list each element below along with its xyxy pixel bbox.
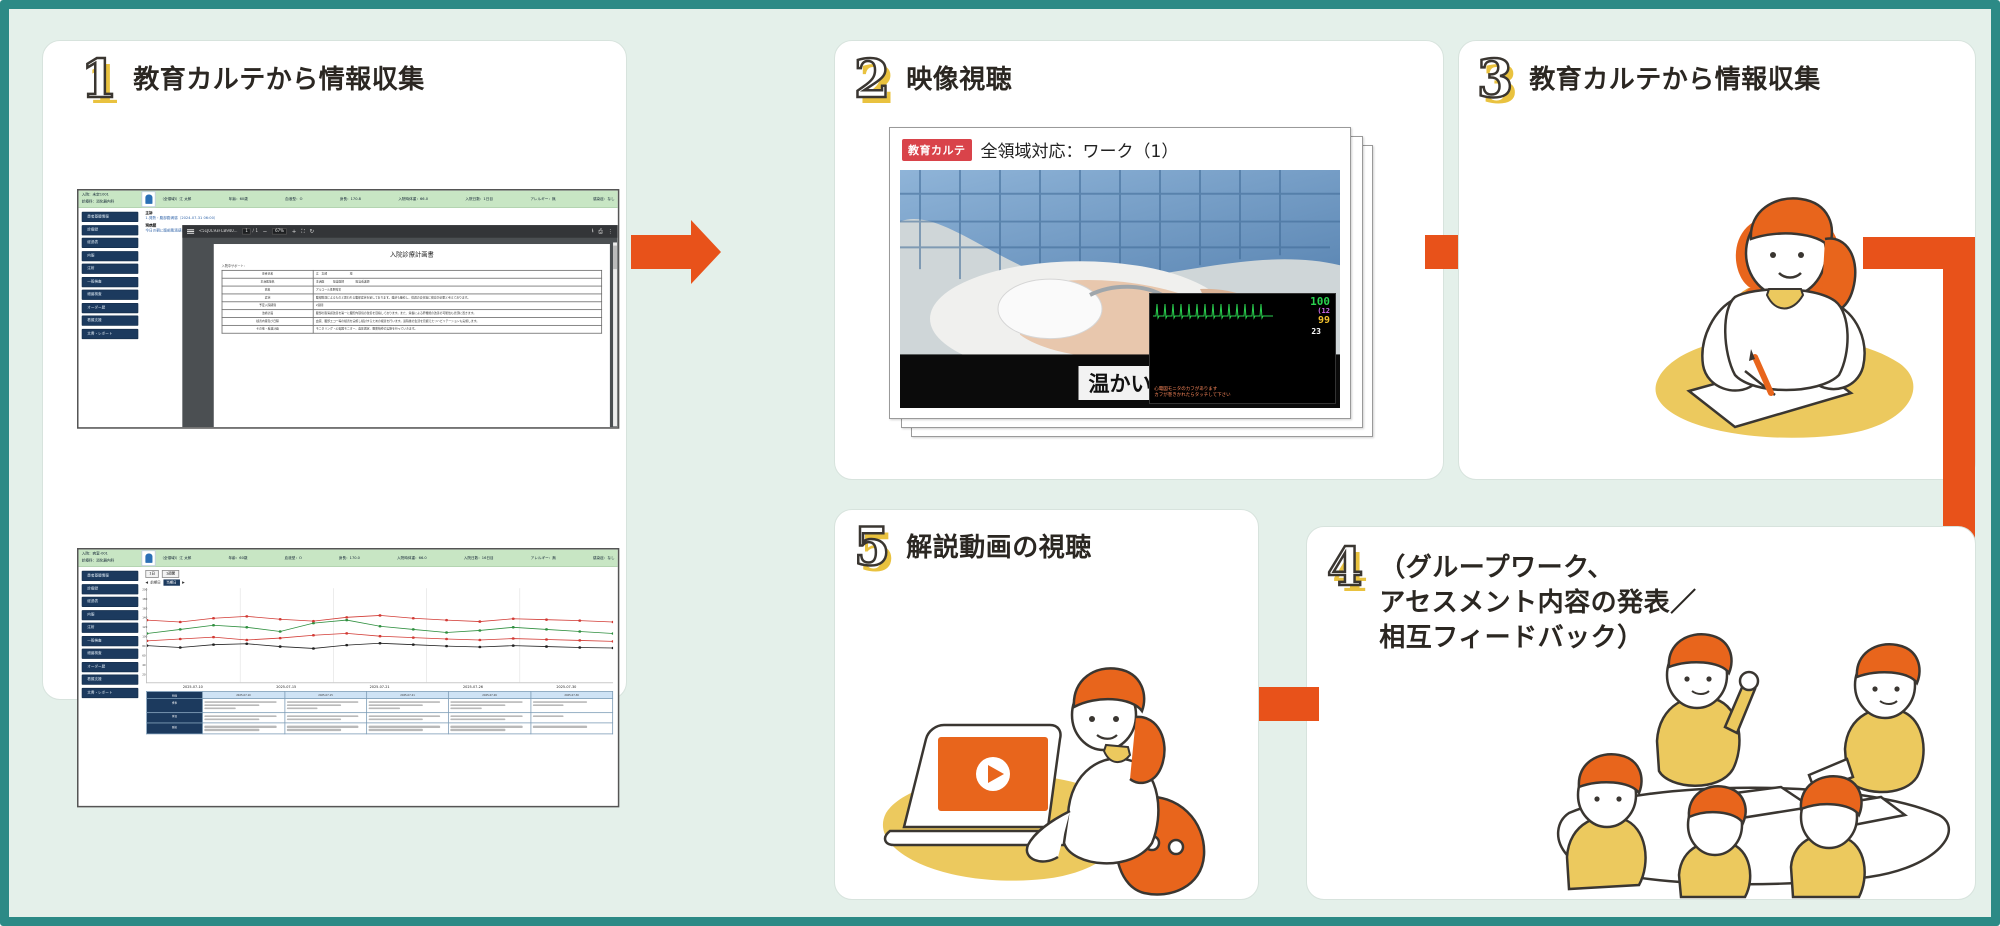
tab-one-day[interactable]: 1日 <box>145 570 159 578</box>
vitals-patient-room: 入院：病室-001 <box>82 551 137 558</box>
emr-field: アレルギー：無 <box>530 196 555 201</box>
cell: 2025-07-26 <box>449 691 531 698</box>
nav-arrow-left-icon[interactable]: ◀ <box>145 581 148 585</box>
date-label: 2025-07-10 <box>183 686 203 690</box>
tab-one-week[interactable]: 1週間 <box>162 570 179 578</box>
cell <box>531 712 613 723</box>
pdf-table: 患者氏名 江 太郎 様 主治医等名 主治医 担当医師 担当看護師 病名 アルコー… <box>222 270 602 334</box>
row-label: 検査内容及び日程 <box>222 318 313 326</box>
row-value: 主治医 担当医師 担当看護師 <box>313 278 602 286</box>
emr-field: 年齢：60歳 <box>229 196 248 201</box>
row-value: 2週間 <box>313 302 602 310</box>
cell <box>449 712 531 723</box>
sidebar-item-patient-info[interactable]: 患者基礎情報 <box>82 212 139 222</box>
sidebar-item-documents[interactable]: 文書・レポート <box>82 688 139 698</box>
vitals-date-labels: 2025-07-10 2025-07-15 2025-07-21 2025-07… <box>146 686 613 690</box>
row-value: 腹部膨満によるものと思われる腹部症状を呈しております。発熱も継続し、体調の変化等… <box>313 294 602 302</box>
chart-y-axis: 200 180 160 140 120 100 80 60 40 20 <box>142 588 147 682</box>
sidebar-item-general-test[interactable]: 一般検査 <box>82 636 139 646</box>
date-label: 2025-07-21 <box>370 686 390 690</box>
nav-arrow-right-icon[interactable]: ▶ <box>182 581 185 585</box>
cell: 2025-07-30 <box>531 691 613 698</box>
vitals-patient-info: 入院：病室-001 診療科：消化器内科 <box>82 551 137 565</box>
vitals-field: （全領域Ⅰ）江 太郎 <box>160 555 191 560</box>
vitals-main-area: 1日 1週間 ◀ 前期日 当期日 ▶ 200 180 160 140 <box>141 567 617 806</box>
row-value: 血液、腹部エコー等の検査を実施し検討するための検査を行います。退院後の生活を見据… <box>313 318 602 326</box>
emr-field-list: （全領域Ⅰ）江 太郎 年齢：60歳 血液型：O 身長：170.8 入院時体重：6… <box>160 196 614 201</box>
sidebar-item-bacteria-test[interactable]: 細菌検査 <box>82 290 139 300</box>
rotate-icon[interactable]: ↻ <box>310 228 315 234</box>
patient-avatar-icon <box>141 550 155 566</box>
video-stack: 教育カルテ 全領域対応：ワーク（1） <box>889 127 1389 457</box>
vitals-data-table: 時間 2025-07-10 2025-07-15 2025-07-21 2025… <box>146 691 613 734</box>
pdf-document-title: 入院診療計画書 <box>222 250 602 259</box>
y-tick: 140 <box>142 616 147 619</box>
zoom-out-icon[interactable]: − <box>263 228 268 234</box>
step-1-number: 1 <box>81 57 117 103</box>
note-value-chief-complaint: 1.発熱・腹部膨満感（2024-07-31 06:00） <box>145 216 613 221</box>
step-2-header: 2 映像視聴 <box>854 57 1012 103</box>
table-row: その他・看護計画 モニタリング・心電図モニター、血圧測定、服薬指導の実施を行って… <box>222 325 602 333</box>
y-tick: 160 <box>142 607 147 610</box>
emr-header-bar: 入院：未定1001 診療科：消化器内科 （全領域Ⅰ）江 太郎 年齢：60歳 血液… <box>79 191 618 208</box>
emr-record-screenshot[interactable]: 入院：未定1001 診療科：消化器内科 （全領域Ⅰ）江 太郎 年齢：60歳 血液… <box>77 189 619 429</box>
vitals-field: 入院時体重：66.0 <box>397 555 427 560</box>
cell <box>285 712 367 723</box>
monitor-resp-rate: 23 <box>1311 327 1321 336</box>
step-5-number: 5 <box>854 525 890 571</box>
print-icon[interactable]: ⎙ <box>598 228 602 235</box>
cell: 2025-07-21 <box>367 691 449 698</box>
cell <box>367 712 449 723</box>
sidebar-item-general-test[interactable]: 一般検査 <box>82 277 139 287</box>
vitals-field-list: （全領域Ⅰ）江 太郎 年齢：60歳 血液型：O 身長：170.0 入院時体重：6… <box>160 555 614 560</box>
sidebar-item-documents[interactable]: 文書・レポート <box>82 329 139 339</box>
cell <box>202 712 284 723</box>
row-value: 腹部の膨満感改善を第一に腹腔内環境の改善を目指しております。また、栄養による肝機… <box>313 310 602 318</box>
table-row: 病名 アルコール性肝障害 <box>222 286 602 294</box>
monitor-spo2: 99 <box>1318 315 1330 326</box>
pdf-page-sep: / <box>253 229 254 234</box>
row-header: 体温 <box>147 712 203 723</box>
date-label: 2025-07-15 <box>276 686 296 690</box>
step-5-header: 5 解説動画の視聴 <box>854 525 1092 571</box>
y-tick: 100 <box>142 635 147 638</box>
row-header: 食事 <box>147 699 203 713</box>
patient-avatar-icon <box>141 191 155 207</box>
step-3-title: 教育カルテから情報収集 <box>1529 57 1821 98</box>
y-tick: 180 <box>142 598 147 601</box>
emr-sidebar: 患者基礎情報 診療録 経過表 内服 注射 一般検査 細菌検査 オーダー歴 看護支… <box>79 208 142 427</box>
pdf-page-content: 入院診療計画書 入院中サポート： 患者氏名 江 太郎 様 主治医等名 主治医 担… <box>214 244 610 427</box>
y-tick: 200 <box>142 588 147 591</box>
row-label: 症状 <box>222 294 313 302</box>
monitor-blood-pressure: (12 <box>1317 307 1330 315</box>
sidebar-toggle-icon[interactable] <box>187 229 194 235</box>
sidebar-item-order-history[interactable]: オーダー歴 <box>82 662 139 672</box>
vitals-chart-svg <box>147 588 613 682</box>
illustration-group-work <box>1529 599 1969 899</box>
row-label: 病名 <box>222 286 313 294</box>
pdf-viewer[interactable]: <51J0C93FCB940... 1 / 1 − 67% + ⛶ ↻ ⭳ <box>182 225 617 427</box>
ecg-waveform-icon <box>1153 298 1273 322</box>
cell: 2025-07-15 <box>285 691 367 698</box>
sidebar-item-progress[interactable]: 経過表 <box>82 238 139 248</box>
sidebar-item-oral-meds[interactable]: 内服 <box>82 610 139 620</box>
video-frame[interactable]: 温かい 100 (12 99 23 心電図モニタのカフがあります カフが巻きかれ… <box>900 170 1340 408</box>
emr-patient-info: 入院：未定1001 診療科：消化器内科 <box>82 192 137 206</box>
vitals-chart: 200 180 160 140 120 100 80 60 40 20 <box>146 588 613 683</box>
vitals-field: 入院日数：16日目 <box>464 555 494 560</box>
sidebar-item-order-history[interactable]: オーダー歴 <box>82 303 139 313</box>
vitals-patient-dept: 診療科：消化器内科 <box>82 558 137 565</box>
table-row: 患者氏名 江 太郎 様 <box>222 270 602 278</box>
vitals-sidebar: 患者基礎情報 診療録 経過表 内服 注射 一般検査 細菌検査 オーダー歴 看護支… <box>79 567 142 806</box>
emr-field: 身長：170.8 <box>340 196 361 201</box>
cell <box>202 723 284 734</box>
nav-prev-label[interactable]: 前期日 <box>150 580 160 585</box>
vitals-field: 感染症：なし <box>593 555 615 560</box>
table-row: 症状 腹部膨満によるものと思われる腹部症状を呈しております。発熱も継続し、体調の… <box>222 294 602 302</box>
vitals-field: 血液型：O <box>285 555 302 560</box>
cell <box>531 723 613 734</box>
monitor-caption: 心電図モニタのカフがあります カフが巻きかれたらタッチして下さい <box>1154 387 1230 399</box>
cell <box>449 699 531 713</box>
more-options-icon[interactable]: ⋮ <box>608 228 614 234</box>
emr-vitals-screenshot[interactable]: 入院：病室-001 診療科：消化器内科 （全領域Ⅰ）江 太郎 年齢：60歳 血液… <box>77 548 619 807</box>
arrow-1-to-2 <box>631 235 691 269</box>
video-badge: 教育カルテ <box>902 139 972 161</box>
video-player[interactable]: 教育カルテ 全領域対応：ワーク（1） <box>889 127 1351 419</box>
step-1-title: 教育カルテから情報収集 <box>133 57 425 98</box>
nav-current-label[interactable]: 当期日 <box>163 579 180 585</box>
pdf-toolbar[interactable]: <51J0C93FCB940... 1 / 1 − 67% + ⛶ ↻ ⭳ <box>182 225 617 238</box>
fit-page-icon[interactable]: ⛶ <box>301 228 305 235</box>
pdf-zoom-level[interactable]: 67% <box>272 228 287 234</box>
step-3-number: 3 <box>1477 57 1513 103</box>
row-value: 江 太郎 様 <box>313 270 602 278</box>
emr-field: （全領域Ⅰ）江 太郎 <box>160 196 191 201</box>
table-row: 検査内容及び日程 血液、腹部エコー等の検査を実施し検討するための検査を行います。… <box>222 318 602 326</box>
row-header: 脈拍 <box>147 723 203 734</box>
sidebar-item-bacteria-test[interactable]: 細菌検査 <box>82 649 139 659</box>
cell <box>367 699 449 713</box>
y-tick: 20 <box>142 673 145 676</box>
cell <box>202 699 284 713</box>
sidebar-item-progress[interactable]: 経過表 <box>82 597 139 607</box>
row-label: 治療計画 <box>222 310 313 318</box>
pdf-page-indicator[interactable]: 1 / 1 <box>242 228 258 234</box>
person-right <box>1809 644 1924 792</box>
arrow-3-to-4-top <box>1863 237 1975 269</box>
emr-field: 感染症：なし <box>593 196 615 201</box>
emr-field: 入院日数：1日目 <box>465 196 493 201</box>
emr-patient-room: 入院：未定1001 <box>82 192 137 199</box>
emr-field: 入院時体重：66.0 <box>398 196 428 201</box>
video-title-bar: 教育カルテ 全領域対応：ワーク（1） <box>890 128 1350 171</box>
cell <box>285 723 367 734</box>
date-label: 2025-07-30 <box>556 686 576 690</box>
row-label: 予定入院期間 <box>222 302 313 310</box>
table-row: 脈拍 <box>147 723 613 734</box>
step-2-number: 2 <box>854 57 890 103</box>
sidebar-item-nursing[interactable]: 看護支援 <box>82 316 139 326</box>
y-tick: 120 <box>142 626 147 629</box>
row-label: 患者氏名 <box>222 270 313 278</box>
cell: 2025-07-10 <box>202 691 284 698</box>
row-header: 時間 <box>147 691 203 698</box>
sidebar-item-patient-info[interactable]: 患者基礎情報 <box>82 571 139 581</box>
step-4-number: 4 <box>1327 545 1363 591</box>
emr-field: 血液型：O <box>285 196 302 201</box>
pdf-page-current[interactable]: 1 <box>242 228 251 234</box>
row-label: その他・看護計画 <box>222 325 313 333</box>
table-row: 主治医等名 主治医 担当医師 担当看護師 <box>222 278 602 286</box>
pdf-scrollbar[interactable] <box>613 242 617 426</box>
y-tick: 60 <box>142 654 145 657</box>
cell <box>367 723 449 734</box>
pdf-filename: <51J0C93FCB940... <box>199 229 238 234</box>
sidebar-item-injection[interactable]: 注射 <box>82 264 139 274</box>
sidebar-item-injection[interactable]: 注射 <box>82 623 139 633</box>
sidebar-item-chart[interactable]: 診療録 <box>82 584 139 594</box>
vital-signs-monitor: 100 (12 99 23 心電図モニタのカフがあります カフが巻きかれたらタッ… <box>1149 293 1336 404</box>
cell <box>449 723 531 734</box>
step-5-title: 解説動画の視聴 <box>906 525 1092 566</box>
step-1-header: 1 教育カルテから情報収集 <box>81 57 425 103</box>
vitals-field: 年齢：60歳 <box>228 555 247 560</box>
illustration-watching-video <box>864 599 1254 899</box>
table-row: 治療計画 腹部の膨満感改善を第一に腹腔内環境の改善を目指しております。また、栄養… <box>222 310 602 318</box>
sidebar-item-chart[interactable]: 診療録 <box>82 225 139 235</box>
person-standing <box>1657 634 1758 786</box>
table-row: 食事 <box>147 699 613 713</box>
arrow-4-to-5 <box>1259 687 1319 721</box>
step-3-header: 3 教育カルテから情報収集 <box>1477 57 1821 103</box>
date-label: 2025-07-26 <box>463 686 483 690</box>
step-2-title: 映像視聴 <box>906 57 1012 98</box>
row-value: アルコール性肝障害 <box>313 286 602 294</box>
zoom-in-icon[interactable]: + <box>292 228 297 234</box>
y-tick: 40 <box>142 664 145 667</box>
row-label: 主治医等名 <box>222 278 313 286</box>
y-tick: 80 <box>142 645 145 648</box>
sidebar-item-oral-meds[interactable]: 内服 <box>82 251 139 261</box>
monitor-caption-line-2: カフが巻きかれたらタッチして下さい <box>1154 393 1230 399</box>
poster-root: 1 教育カルテから情報収集 入院：未定1001 診療科：消化器内科 （全領域Ⅰ）… <box>0 0 2000 926</box>
pdf-page-total: 1 <box>255 229 258 234</box>
sidebar-item-nursing[interactable]: 看護支援 <box>82 675 139 685</box>
row-value: モニタリング・心電図モニター、血圧測定、服薬指導の実施を行っていきます。 <box>313 325 602 333</box>
download-icon[interactable]: ⭳ <box>592 227 594 236</box>
table-row: 時間 2025-07-10 2025-07-15 2025-07-21 2025… <box>147 691 613 698</box>
table-row: 体温 <box>147 712 613 723</box>
pdf-meta-label: 入院中サポート： <box>222 264 602 269</box>
vitals-range-tabs[interactable]: 1日 1週間 <box>141 567 617 580</box>
vitals-header-bar: 入院：病室-001 診療科：消化器内科 （全領域Ⅰ）江 太郎 年齢：60歳 血液… <box>79 550 618 567</box>
vitals-field: アレルギー：無 <box>531 555 556 560</box>
vitals-field: 身長：170.0 <box>339 555 360 560</box>
table-row: 予定入院期間 2週間 <box>222 302 602 310</box>
cell <box>285 699 367 713</box>
emr-main-area: 主訴 1.発熱・腹部膨満感（2024-07-31 06:00） 現病歴 今日の朝… <box>141 208 617 427</box>
emr-patient-dept: 診療科：消化器内科 <box>82 199 137 206</box>
video-title: 全領域対応：ワーク（1） <box>981 137 1179 162</box>
vitals-date-nav[interactable]: ◀ 前期日 当期日 ▶ <box>141 579 617 588</box>
cell <box>531 699 613 713</box>
